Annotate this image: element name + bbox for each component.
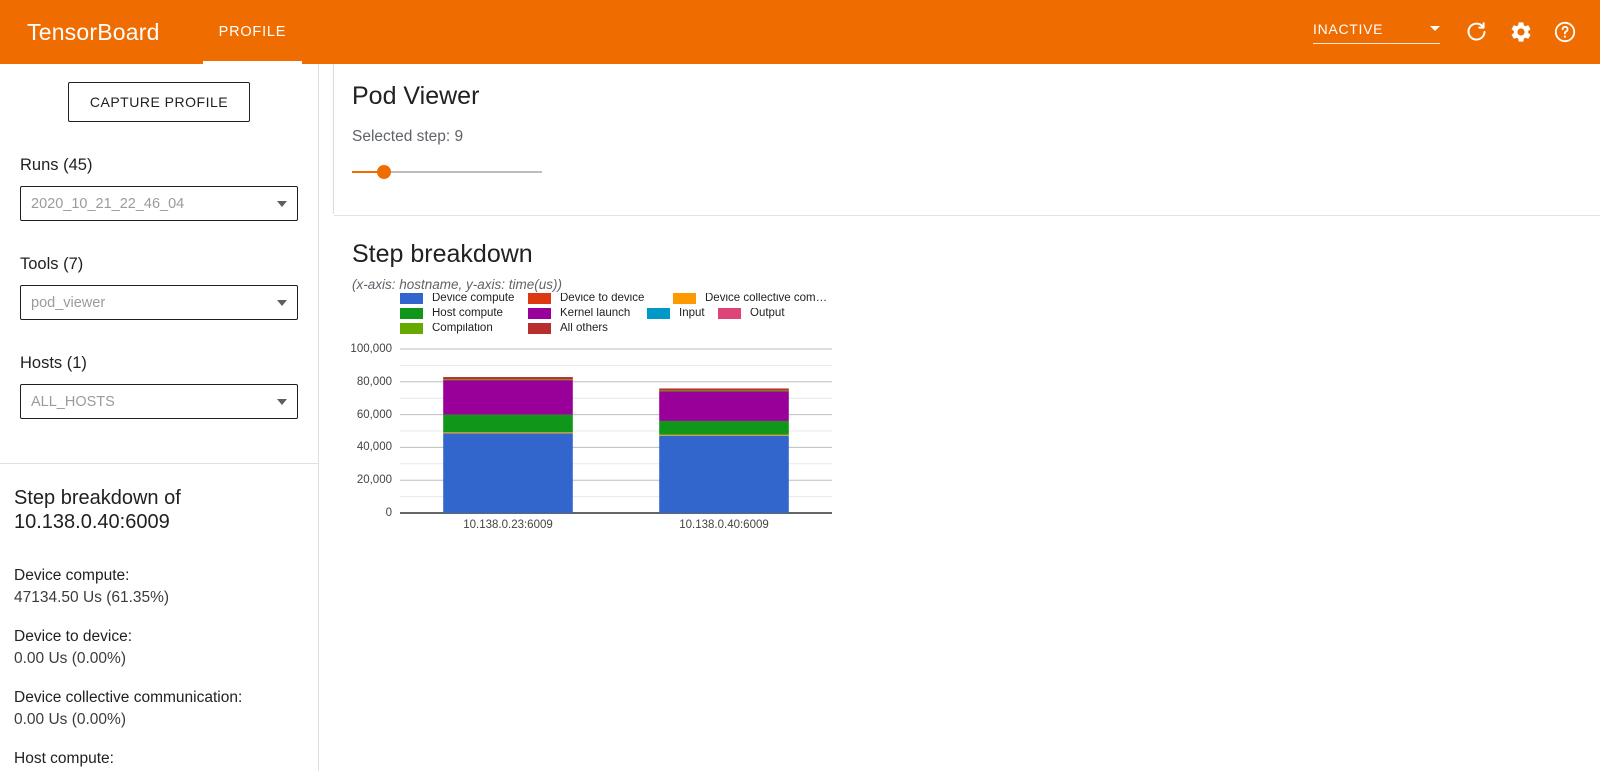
page-title: Pod Viewer [352,82,1600,111]
chevron-down-icon [277,300,287,306]
bar-segment[interactable] [659,388,789,390]
legend-swatch-host-compute [400,308,423,319]
chart-title: Step breakdown [352,240,1600,269]
y-axis-tick-label: 40,000 [357,441,392,453]
status-dropdown[interactable]: INACTIVE [1313,21,1440,44]
chevron-down-icon [1430,26,1440,31]
step-breakdown-chart: Device compute Device to device Device c… [352,291,952,551]
stat-value: 47134.50 Us (61.35%) [14,587,304,609]
stat-key: Host compute: [14,748,304,770]
app-header: TensorBoard PROFILE INACTIVE [0,0,1600,64]
app-brand: TensorBoard [27,19,160,46]
stat-item: Device collective communication: 0.00 Us… [14,687,304,732]
x-axis-tick-label: 10.138.0.23:6009 [463,519,553,531]
step-breakdown-card: Step breakdown (x-axis: hostname, y-axis… [334,216,1600,771]
chevron-down-icon [277,399,287,405]
bar-segment[interactable] [443,380,573,415]
tools-select[interactable]: pod_viewer [20,285,298,320]
hosts-field: Hosts (1) ALL_HOSTS [0,354,318,419]
legend-item[interactable]: Output [718,308,798,320]
legend-row: Compilation All others [400,321,830,336]
y-axis-tick-label: 100,000 [350,343,392,355]
runs-field: Runs (45) 2020_10_21_22_46_04 [0,156,318,221]
slider-thumb[interactable] [377,165,391,179]
y-axis-tick-label: 80,000 [357,376,392,388]
settings-button[interactable] [1508,19,1534,45]
legend-label: Device to device [560,293,644,305]
legend-label: Output [750,308,785,320]
runs-select-value: 2020_10_21_22_46_04 [31,196,184,212]
status-dropdown-value: INACTIVE [1313,21,1383,37]
legend-label: All others [560,323,608,335]
legend-item[interactable]: Device collective com… [673,293,828,305]
runs-select[interactable]: 2020_10_21_22_46_04 [20,186,298,221]
legend-item[interactable]: Device compute [400,293,528,305]
chart-legend: Device compute Device to device Device c… [400,291,830,336]
stat-value: 0.00 Us (0.00%) [14,709,304,731]
legend-item[interactable]: Input [647,308,718,320]
reload-button[interactable] [1464,19,1490,45]
chart-subtitle: (x-axis: hostname, y-axis: time(us)) [352,277,1600,292]
bar-segment[interactable] [443,415,573,433]
bar-segment[interactable] [443,379,573,380]
tab-profile[interactable]: PROFILE [203,0,303,64]
legend-label: Device collective com… [705,293,827,305]
legend-swatch-kernel-launch [528,308,551,319]
tools-label: Tools (7) [20,255,298,274]
runs-label: Runs (45) [20,156,298,175]
sidebar: CAPTURE PROFILE Runs (45) 2020_10_21_22_… [0,64,318,771]
bar-segment[interactable] [659,390,789,391]
legend-item[interactable]: All others [528,323,648,335]
chevron-down-icon [277,201,287,207]
main-content: Pod Viewer Selected step: 9 Step breakdo… [334,64,1600,771]
hosts-label: Hosts (1) [20,354,298,373]
tools-field: Tools (7) pod_viewer [0,255,318,320]
stat-item: Host compute: [14,748,304,770]
bar-segment[interactable] [659,421,789,435]
selected-step-label: Selected step: 9 [352,128,1600,146]
sidebar-edge-divider [318,64,319,771]
header-actions: INACTIVE [1313,19,1600,45]
legend-label: Host compute [432,308,503,320]
bar-segment[interactable] [443,433,573,513]
hosts-select[interactable]: ALL_HOSTS [20,384,298,419]
bar-segment[interactable] [659,435,789,436]
legend-label: Compilation [432,323,493,335]
legend-swatch-output [718,308,741,319]
stat-key: Device collective communication: [14,687,304,709]
legend-swatch-device-to-device [528,293,551,304]
legend-item[interactable]: Compilation [400,323,528,335]
y-axis-tick-label: 0 [386,507,392,519]
stat-value: 0.00 Us (0.00%) [14,648,304,670]
legend-label: Device compute [432,293,514,305]
legend-swatch-device-collective [673,293,696,304]
help-icon [1553,20,1577,44]
tab-profile-label: PROFILE [219,24,287,40]
stat-key: Device compute: [14,565,304,587]
x-axis-tick-label: 10.138.0.40:6009 [679,519,769,531]
legend-swatch-compilation [400,323,423,334]
tools-select-value: pod_viewer [31,295,105,311]
capture-profile-button[interactable]: CAPTURE PROFILE [68,82,250,122]
bar-segment[interactable] [443,377,573,379]
legend-label: Kernel launch [560,308,630,320]
y-axis-tick-label: 20,000 [357,474,392,486]
sidebar-breakdown-title: Step breakdown of 10.138.0.40:6009 [0,464,318,535]
legend-label: Input [679,308,705,320]
hosts-select-value: ALL_HOSTS [31,394,115,410]
gear-icon [1509,20,1533,44]
legend-item[interactable]: Device to device [528,293,673,305]
legend-swatch-device-compute [400,293,423,304]
bar-segment[interactable] [659,436,789,513]
stat-item: Device compute: 47134.50 Us (61.35%) [14,565,304,610]
nav-tabs: PROFILE [203,0,303,64]
bar-segment[interactable] [659,391,789,421]
step-slider[interactable] [352,162,542,182]
legend-item[interactable]: Kernel launch [528,308,647,320]
bar-segment[interactable] [443,432,573,433]
legend-swatch-all-others [528,323,551,334]
stat-item: Device to device: 0.00 Us (0.00%) [14,626,304,671]
sidebar-stat-list: Device compute: 47134.50 Us (61.35%) Dev… [0,535,318,770]
reload-icon [1465,20,1489,44]
legend-swatch-input [647,308,670,319]
y-axis-tick-label: 60,000 [357,409,392,421]
chart-plot-area: 020,00040,00060,00080,000100,000 10.138.… [352,339,952,525]
legend-item[interactable]: Host compute [400,308,528,320]
chart-svg [352,339,952,525]
legend-row: Host compute Kernel launch Input Output [400,306,830,321]
stat-key: Device to device: [14,626,304,648]
capture-profile-row: CAPTURE PROFILE [0,64,318,122]
legend-row: Device compute Device to device Device c… [400,291,830,306]
help-button[interactable] [1552,19,1578,45]
